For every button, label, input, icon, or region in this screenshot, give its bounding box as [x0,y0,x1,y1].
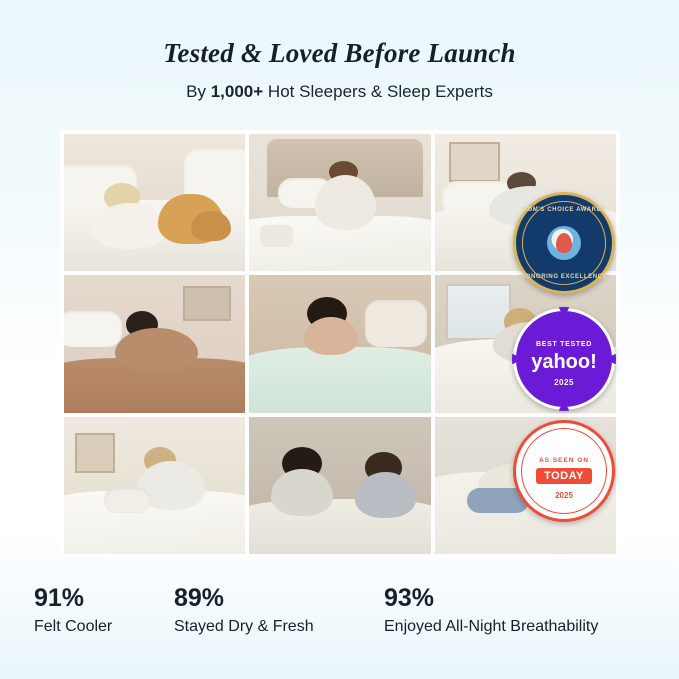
badge-ring [521,428,607,514]
stats-row: 91% Felt Cooler 89% Stayed Dry & Fresh 9… [34,585,645,655]
subtitle-bold: 1,000+ [211,82,263,101]
moms-choice-emblem-icon [547,226,581,260]
collage-photo-4 [64,275,245,412]
stat-item-2: 89% Stayed Dry & Fresh [174,585,314,636]
collage-photo-2 [249,134,430,271]
badge-as-seen-on-today: AS SEEN ON TODAY 2025 [513,420,615,522]
subtitle-prefix: By [186,82,211,101]
stat-value: 93% [384,585,598,613]
page-title: Tested & Loved Before Launch [0,38,679,69]
badge-scallop-edge [512,307,616,411]
collage-photo-8 [249,417,430,554]
collage-photo-5 [249,275,430,412]
page-subtitle: By 1,000+ Hot Sleepers & Sleep Experts [0,82,679,102]
stat-caption: Stayed Dry & Fresh [174,618,314,636]
stat-item-3: 93% Enjoyed All-Night Breathability [384,585,598,636]
stat-value: 91% [34,585,112,613]
badge-moms-arc-bottom: HONORING EXCELLENCE [516,274,612,280]
badge-moms-choice-awards: MOM'S CHOICE AWARDS HONORING EXCELLENCE [513,192,615,294]
stat-value: 89% [174,585,314,613]
collage-photo-1 [64,134,245,271]
subtitle-suffix: Hot Sleepers & Sleep Experts [263,82,493,101]
stat-item-1: 91% Felt Cooler [34,585,112,636]
stat-caption: Enjoyed All-Night Breathability [384,618,598,636]
badge-yahoo-best-tested: BEST TESTED yahoo! 2025 [513,308,615,410]
stat-caption: Felt Cooler [34,618,112,636]
promo-image: Tested & Loved Before Launch By 1,000+ H… [0,0,679,679]
collage-photo-7 [64,417,245,554]
badge-moms-arc-top: MOM'S CHOICE AWARDS [516,207,612,213]
